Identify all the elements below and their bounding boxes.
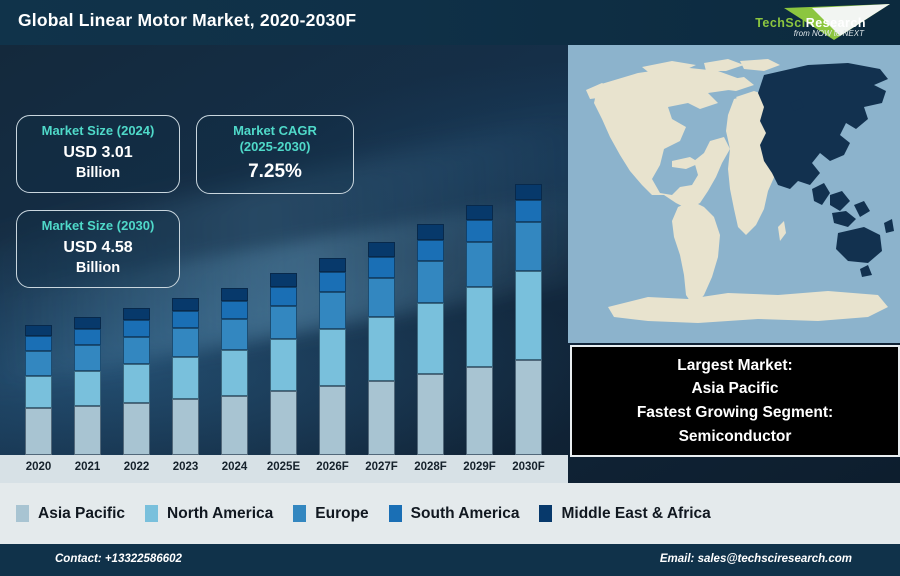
bar-2026F	[319, 258, 346, 455]
bar-segment-europe	[172, 328, 199, 357]
bar-segment-asia-pacific	[319, 386, 346, 455]
bar-segment-north-america	[172, 357, 199, 399]
footer-bar: Contact: +13322586602 Email: sales@techs…	[0, 544, 900, 576]
bar-segment-asia-pacific	[74, 406, 101, 455]
key-insights-box: Largest Market: Asia Pacific Fastest Gro…	[570, 345, 900, 457]
bar-segment-europe	[74, 345, 101, 371]
x-axis-label-2020: 2020	[14, 461, 63, 473]
bar-segment-south-america	[74, 329, 101, 345]
bar-segment-asia-pacific	[172, 399, 199, 455]
bar-segment-south-america	[25, 336, 52, 351]
bar-segment-south-america	[417, 240, 444, 261]
page-title: Global Linear Motor Market, 2020-2030F	[18, 10, 356, 31]
bar-segment-asia-pacific	[123, 403, 150, 455]
bar-segment-middle-east-africa	[319, 258, 346, 273]
world-map-panel	[568, 45, 900, 343]
bar-segment-middle-east-africa	[25, 325, 52, 336]
bar-segment-middle-east-africa	[221, 288, 248, 301]
bar-segment-middle-east-africa	[466, 205, 493, 221]
bar-segment-north-america	[270, 339, 297, 391]
bar-2025E	[270, 273, 297, 455]
legend-swatch	[145, 505, 158, 522]
bar-segment-asia-pacific	[221, 396, 248, 455]
bar-segment-middle-east-africa	[515, 184, 542, 200]
x-axis-label-2024: 2024	[210, 461, 259, 473]
bar-segment-europe	[319, 292, 346, 328]
bar-segment-europe	[368, 278, 395, 317]
plot-area	[0, 45, 568, 455]
x-axis-label-2028F: 2028F	[406, 461, 455, 473]
legend-swatch	[293, 505, 306, 522]
legend-item-north-america[interactable]: North America	[145, 505, 273, 523]
bar-2029F	[466, 205, 493, 456]
bar-segment-europe	[25, 351, 52, 376]
bar-segment-south-america	[123, 320, 150, 336]
key-insights-text: Largest Market: Asia Pacific Fastest Gro…	[637, 354, 833, 448]
x-axis-label-2021: 2021	[63, 461, 112, 473]
bar-segment-north-america	[466, 287, 493, 367]
legend-label: Europe	[315, 505, 368, 523]
bar-2028F	[417, 224, 444, 455]
bar-segment-south-america	[515, 200, 542, 222]
bar-2020	[25, 325, 52, 455]
x-axis-label-2026F: 2026F	[308, 461, 357, 473]
bar-segment-asia-pacific	[417, 374, 444, 455]
x-axis-label-2025E: 2025E	[259, 461, 308, 473]
chart-legend: Asia PacificNorth AmericaEuropeSouth Ame…	[0, 483, 900, 544]
x-axis-label-2030F: 2030F	[504, 461, 553, 473]
legend-label: Middle East & Africa	[561, 505, 710, 523]
legend-item-asia-pacific[interactable]: Asia Pacific	[16, 505, 125, 523]
bar-segment-middle-east-africa	[123, 308, 150, 320]
bar-segment-europe	[466, 242, 493, 287]
footer-contact: Contact: +13322586602	[55, 553, 182, 565]
logo-brand-second: Research	[806, 16, 866, 30]
bar-2027F	[368, 242, 395, 455]
logo-wordmark: TechSciResearch	[755, 16, 866, 30]
bar-segment-europe	[221, 319, 248, 350]
legend-label: South America	[411, 505, 520, 523]
legend-item-europe[interactable]: Europe	[293, 505, 368, 523]
x-axis-label-2022: 2022	[112, 461, 161, 473]
header-bar: Global Linear Motor Market, 2020-2030F T…	[0, 0, 900, 45]
logo-brand-first: TechSci	[755, 16, 806, 30]
bar-segment-south-america	[319, 272, 346, 292]
bar-segment-north-america	[25, 376, 52, 408]
bar-2024	[221, 288, 248, 455]
bar-segment-asia-pacific	[466, 367, 493, 455]
infographic-page: Global Linear Motor Market, 2020-2030F T…	[0, 0, 900, 576]
legend-swatch	[16, 505, 29, 522]
bar-segment-north-america	[368, 317, 395, 381]
legend-swatch	[539, 505, 552, 522]
bar-segment-middle-east-africa	[74, 317, 101, 329]
bar-segment-europe	[417, 261, 444, 303]
bar-2021	[74, 317, 101, 455]
bar-segment-middle-east-africa	[368, 242, 395, 257]
world-map-icon	[568, 45, 900, 343]
footer-email: Email: sales@techsciresearch.com	[660, 553, 852, 565]
x-axis-label-2029F: 2029F	[455, 461, 504, 473]
brand-logo: TechSciResearch from NOW to NEXT	[708, 2, 894, 44]
legend-label: North America	[167, 505, 273, 523]
logo-tagline: from NOW to NEXT	[794, 29, 864, 38]
bar-segment-europe	[123, 337, 150, 365]
bar-segment-south-america	[368, 257, 395, 277]
bar-segment-north-america	[221, 350, 248, 396]
bar-segment-north-america	[319, 329, 346, 386]
bar-segment-south-america	[221, 301, 248, 319]
bar-segment-asia-pacific	[515, 360, 542, 455]
x-axis-label-2027F: 2027F	[357, 461, 406, 473]
bar-2030F	[515, 184, 542, 455]
legend-label: Asia Pacific	[38, 505, 125, 523]
bar-segment-south-america	[466, 220, 493, 242]
stacked-bar-chart: 202020212022202320242025E2026F2027F2028F…	[0, 45, 568, 483]
x-axis: 202020212022202320242025E2026F2027F2028F…	[0, 455, 568, 483]
bar-segment-middle-east-africa	[172, 298, 199, 311]
bar-segment-north-america	[123, 364, 150, 403]
bar-2023	[172, 298, 199, 455]
bar-2022	[123, 308, 150, 455]
x-axis-label-2023: 2023	[161, 461, 210, 473]
bar-segment-north-america	[417, 303, 444, 374]
bar-segment-asia-pacific	[270, 391, 297, 455]
legend-swatch	[389, 505, 402, 522]
bar-segment-middle-east-africa	[417, 224, 444, 239]
bar-segment-europe	[515, 222, 542, 271]
legend-item-middle-east-africa[interactable]: Middle East & Africa	[539, 505, 710, 523]
bar-segment-south-america	[270, 287, 297, 306]
bar-segment-asia-pacific	[25, 408, 52, 455]
bar-segment-europe	[270, 306, 297, 339]
bar-segment-south-america	[172, 311, 199, 328]
bar-segment-asia-pacific	[368, 381, 395, 455]
bar-segment-north-america	[515, 271, 542, 360]
bar-segment-north-america	[74, 371, 101, 406]
legend-item-south-america[interactable]: South America	[389, 505, 520, 523]
bar-segment-middle-east-africa	[270, 273, 297, 287]
